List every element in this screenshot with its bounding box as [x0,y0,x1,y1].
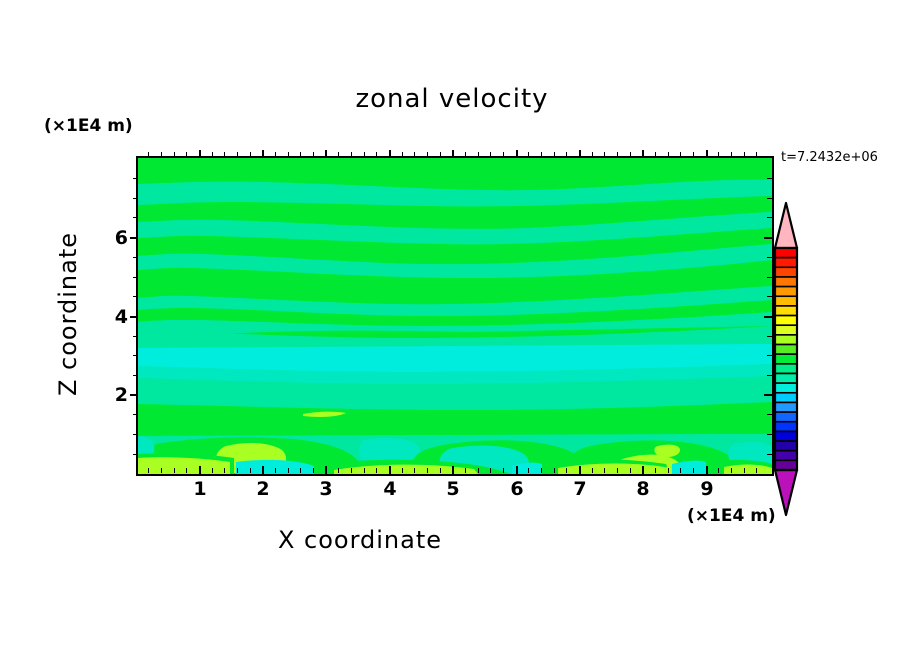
colorbar-band [775,460,797,470]
colorbar-band [775,306,797,316]
y-axis-title: Z coordinate [54,204,82,424]
x-axis-unit-label: (×1E4 m) [687,506,776,526]
x-tick-label: 1 [193,478,206,500]
contour-field-svg [138,158,772,474]
contour-plot-panel [136,156,774,476]
y-tick-label: 2 [110,384,128,406]
contour-field [138,158,772,474]
colorbar-band [775,287,797,297]
x-tick-label: 5 [446,478,459,500]
colorbar-band [775,441,797,451]
x-tick-label: 8 [636,478,649,500]
page-title: zonal velocity [0,84,904,114]
x-tick-label: 6 [510,478,523,500]
colorbar-band [775,296,797,306]
y-tick-label: 6 [110,227,128,249]
y-axis-unit-label: (×1E4 m) [44,116,133,136]
colorbar: 36 24 12 0 −12 −24 −36 [770,198,834,520]
colorbar-band [775,451,797,461]
x-tick-label: 9 [700,478,713,500]
x-tick-label: 3 [319,478,332,500]
colorbar-band [775,431,797,441]
colorbar-band [775,316,797,326]
x-tick-label: 7 [573,478,586,500]
colorbar-band [775,354,797,364]
figure-root: zonal velocity (×1E4 m) (×1E4 m) t=7.243… [0,0,904,654]
y-tick-label: 4 [110,306,128,328]
timestamp-annotation: t=7.2432e+06 [781,150,878,165]
x-tick-label: 2 [256,478,269,500]
colorbar-band [775,373,797,383]
colorbar-band [775,393,797,403]
colorbar-band [775,267,797,277]
colorbar-band [775,258,797,268]
colorbar-band [775,383,797,393]
colorbar-band [775,364,797,374]
colorbar-svg [770,198,834,520]
colorbar-band [775,248,797,258]
colorbar-band [775,325,797,335]
colorbar-band [775,277,797,287]
colorbar-band [775,345,797,355]
colorbar-band [775,402,797,412]
colorbar-band [775,335,797,345]
colorbar-band [775,422,797,432]
x-axis-title: X coordinate [0,526,720,554]
x-tick-label: 4 [383,478,396,500]
colorbar-band [775,412,797,422]
